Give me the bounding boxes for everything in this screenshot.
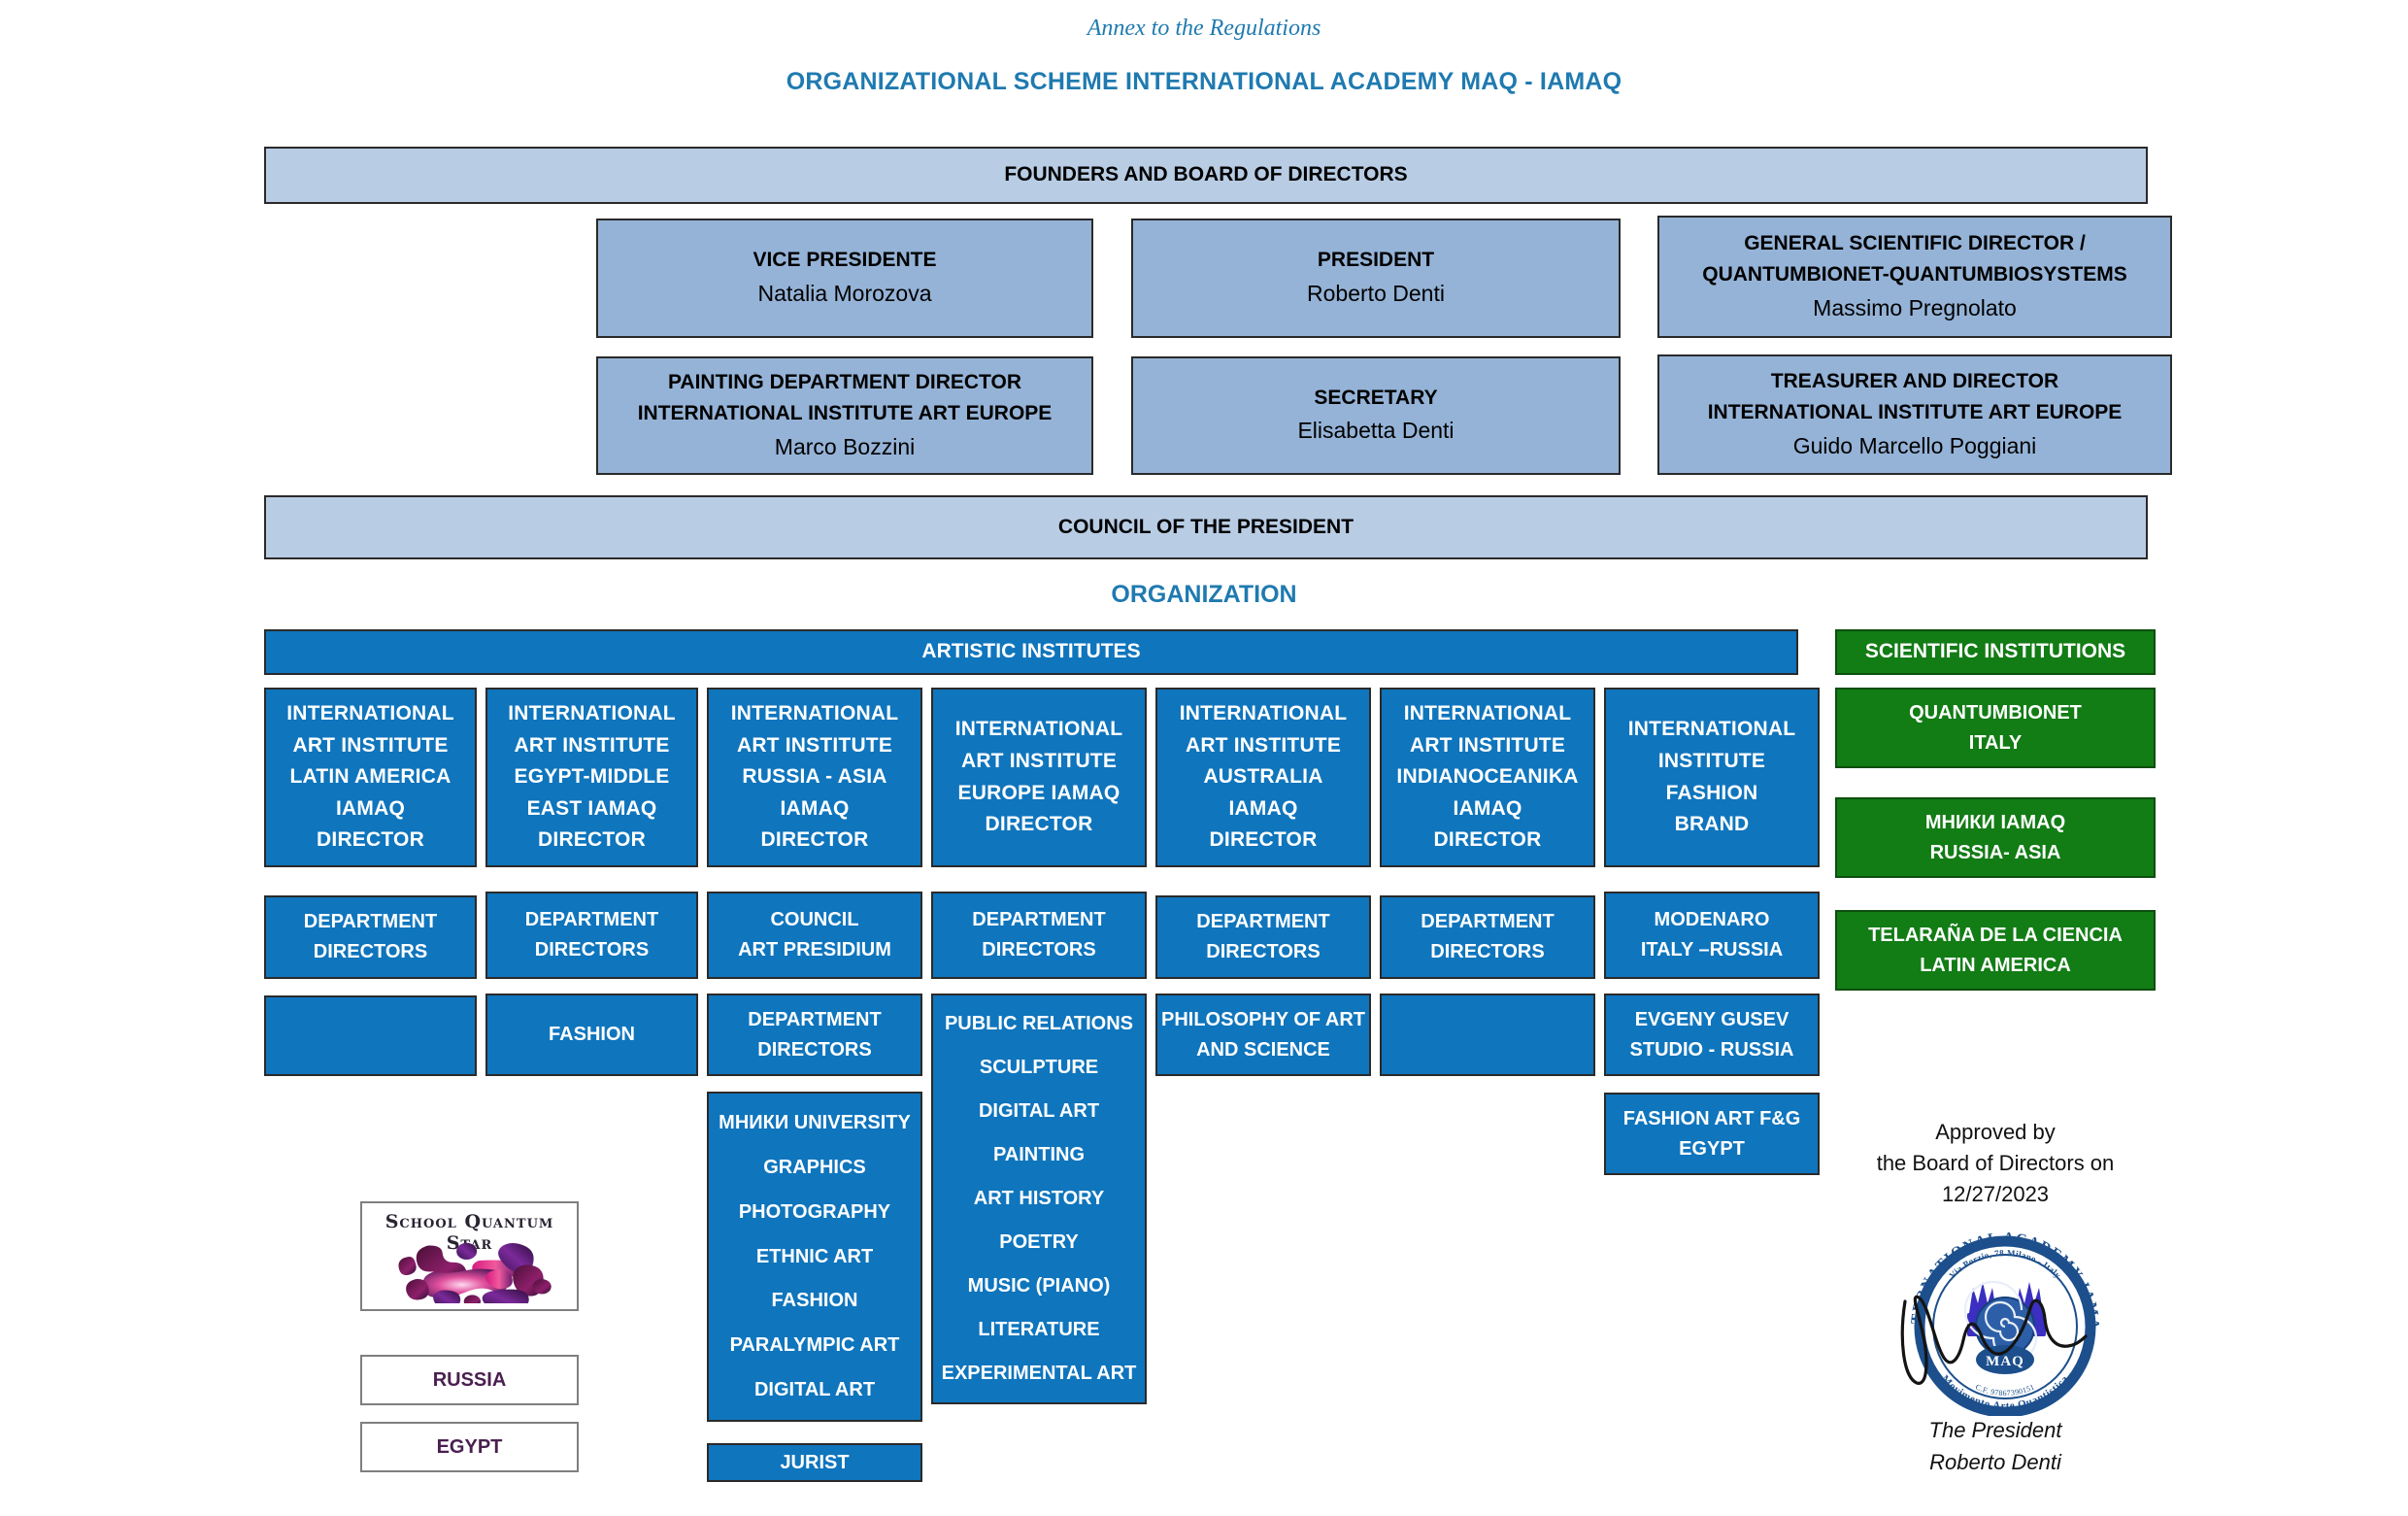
scientific-card-quantumbionet[interactable]: QUANTUMBIONET ITALY (1835, 688, 2156, 768)
scientific-line: TELARAÑA DE LA CIENCIA (1868, 921, 2123, 951)
institute-card-europe[interactable]: INTERNATIONAL ART INSTITUTE EUROPE IAMAQ… (931, 688, 1147, 867)
dept-line: DEPARTMENT (1196, 907, 1329, 937)
institute-card-indianoceanika[interactable]: INTERNATIONAL ART INSTITUTE INDIANOCEANI… (1380, 688, 1595, 867)
fashion-card-egypt[interactable]: FASHION (485, 994, 698, 1076)
band-artistic-institutes: ARTISTIC INSTITUTES (264, 629, 1798, 675)
role-title: PRESIDENT (1318, 245, 1434, 277)
university-item: МНИКИ UNIVERSITY (719, 1108, 911, 1138)
dept-line: STUDIO - RUSSIA (1630, 1035, 1794, 1065)
institute-line: DIRECTOR (1210, 825, 1318, 857)
university-item: PHOTOGRAPHY (739, 1197, 890, 1228)
signature-name: Roberto Denti (1835, 1446, 2156, 1478)
institute-line: ART INSTITUTE (961, 746, 1117, 778)
band-scientific-institutions-label: SCIENTIFIC INSTITUTIONS (1865, 636, 2125, 668)
dept-card-egypt[interactable]: DEPARTMENT DIRECTORS (485, 892, 698, 979)
discipline-item: DIGITAL ART (979, 1096, 1099, 1127)
institute-line: LATIN AMERICA (290, 761, 451, 793)
signature-caption: The President Roberto Denti (1835, 1414, 2156, 1478)
dept-line: DIRECTORS (982, 935, 1095, 965)
evgeny-gusev-studio-card[interactable]: EVGENY GUSEV STUDIO - RUSSIA (1604, 994, 1820, 1076)
institute-line: ART INSTITUTE (737, 730, 892, 762)
institute-line: ART INSTITUTE (292, 730, 448, 762)
dept-line: DEPARTMENT (748, 1005, 881, 1035)
board-card-treasurer-and-director[interactable]: TREASURER AND DIRECTOR INTERNATIONAL INS… (1657, 354, 2172, 475)
institute-line: IAMAQ (781, 793, 850, 825)
institute-line: DIRECTOR (317, 825, 424, 857)
institute-card-australia[interactable]: INTERNATIONAL ART INSTITUTE AUSTRALIA IA… (1155, 688, 1371, 867)
institute-line: INTERNATIONAL (731, 698, 899, 730)
scientific-line: QUANTUMBIONET (1909, 698, 2082, 728)
dept-line: ART PRESIDIUM (738, 935, 891, 965)
dept-card-russia-asia[interactable]: DEPARTMENT DIRECTORS (707, 994, 922, 1076)
board-card-vice-president[interactable]: VICE PRESIDENTE Natalia Morozova (596, 219, 1093, 338)
dept-line: DIRECTORS (1430, 937, 1544, 967)
scientific-card-mniki-iamaq[interactable]: МНИКИ IAMAQ RUSSIA- ASIA (1835, 797, 2156, 878)
dept-line: DIRECTORS (757, 1035, 871, 1065)
annex-subtitle: Annex to the Regulations (0, 16, 2408, 42)
role-title: PAINTING DEPARTMENT DIRECTOR (668, 367, 1021, 399)
dept-card-indianoceanika[interactable]: DEPARTMENT DIRECTORS (1380, 895, 1595, 979)
institute-line: AUSTRALIA (1203, 761, 1322, 793)
university-item: ETHNIC ART (756, 1242, 873, 1272)
dept-line: ITALY –RUSSIA (1641, 935, 1783, 965)
institute-line: RUSSIA - ASIA (742, 761, 886, 793)
org-chart-page: Annex to the Regulations ORGANIZATIONAL … (0, 0, 2408, 1516)
university-item: DIGITAL ART (754, 1375, 875, 1405)
discipline-item: SCULPTURE (980, 1053, 1098, 1083)
institute-line: ART INSTITUTE (1410, 730, 1565, 762)
country-label: RUSSIA (433, 1365, 507, 1396)
organization-heading: ORGANIZATION (0, 581, 2408, 609)
university-item: FASHION (772, 1286, 858, 1316)
role-title: SECRETARY (1314, 383, 1437, 415)
university-item: GRAPHICS (763, 1153, 866, 1183)
band-founders-label: FOUNDERS AND BOARD OF DIRECTORS (1004, 159, 1407, 191)
dept-line: AND SCIENCE (1196, 1035, 1330, 1065)
institute-card-russia-asia[interactable]: INTERNATIONAL ART INSTITUTE RUSSIA - ASI… (707, 688, 922, 867)
dept-line: DIRECTORS (314, 937, 427, 967)
quantum-star-country-russia[interactable]: RUSSIA (360, 1355, 579, 1405)
scientific-line: ITALY (1969, 728, 2022, 758)
scientific-line: RUSSIA- ASIA (1930, 838, 2061, 868)
role-title-2: QUANTUMBIONET-QUANTUMBIOSYSTEMS (1702, 259, 2127, 291)
dept-line: DEPARTMENT (1421, 907, 1554, 937)
dept-line: DEPARTMENT (525, 905, 658, 935)
dept-line: EVGENY GUSEV (1635, 1005, 1789, 1035)
empty-card-latin-america[interactable] (264, 995, 477, 1076)
mniki-university-card[interactable]: МНИКИ UNIVERSITY GRAPHICS PHOTOGRAPHY ET… (707, 1092, 922, 1422)
role-name: Guido Marcello Poggiani (1793, 429, 2037, 464)
institute-line: DIRECTOR (1434, 825, 1542, 857)
quantum-blob-svg (372, 1238, 567, 1303)
dept-line: FASHION ART F&G (1623, 1104, 1801, 1134)
role-title: VICE PRESIDENTE (752, 245, 936, 277)
fashion-art-fg-egypt-card[interactable]: FASHION ART F&G EGYPT (1604, 1093, 1820, 1175)
dept-line: FASHION (549, 1020, 635, 1050)
institute-line: FASHION (1666, 778, 1758, 810)
philosophy-of-art-and-science-card[interactable]: PHILOSOPHY OF ART AND SCIENCE (1155, 994, 1371, 1076)
page-title: ORGANIZATIONAL SCHEME INTERNATIONAL ACAD… (0, 68, 2408, 96)
jurist-card[interactable]: JURIST (707, 1443, 922, 1482)
role-name: Massimo Pregnolato (1813, 291, 2017, 326)
approval-text: Approved by the Board of Directors on 12… (1835, 1117, 2156, 1210)
dept-line: DEPARTMENT (304, 907, 437, 937)
approval-line-2: the Board of Directors on (1835, 1148, 2156, 1179)
institute-line: ART INSTITUTE (514, 730, 669, 762)
institute-line: INSTITUTE (1658, 746, 1765, 778)
scientific-card-telarana-de-la-ciencia[interactable]: TELARAÑA DE LA CIENCIA LATIN AMERICA (1835, 910, 2156, 991)
board-card-president[interactable]: PRESIDENT Roberto Denti (1131, 219, 1621, 338)
institute-line: INTERNATIONAL (1628, 714, 1796, 746)
discipline-item: PAINTING (993, 1140, 1085, 1170)
institute-line: INTERNATIONAL (1180, 698, 1348, 730)
institute-line: EUROPE IAMAQ (958, 778, 1120, 810)
school-quantum-star-logo-card: School Quantum Star (360, 1201, 579, 1311)
institute-line: DIRECTOR (986, 809, 1093, 841)
discipline-item: MUSIC (PIANO) (968, 1271, 1111, 1301)
institute-line: IAMAQ (336, 793, 405, 825)
institute-line: ART INSTITUTE (1186, 730, 1341, 762)
role-title-2: INTERNATIONAL INSTITUTE ART EUROPE (638, 398, 1053, 430)
role-title: GENERAL SCIENTIFIC DIRECTOR / (1744, 228, 2086, 260)
institute-line: IAMAQ (1229, 793, 1298, 825)
institute-line: DIRECTOR (538, 825, 646, 857)
band-scientific-institutions: SCIENTIFIC INSTITUTIONS (1835, 629, 2156, 675)
role-title-2: INTERNATIONAL INSTITUTE ART EUROPE (1708, 397, 2123, 429)
role-name: Marco Bozzini (775, 430, 915, 465)
institute-line: INTERNATIONAL (955, 714, 1123, 746)
dept-card-latin-america[interactable]: DEPARTMENT DIRECTORS (264, 895, 477, 979)
board-card-general-scientific-director[interactable]: GENERAL SCIENTIFIC DIRECTOR / QUANTUMBIO… (1657, 216, 2172, 338)
role-name: Roberto Denti (1307, 277, 1445, 312)
discipline-item: ART HISTORY (974, 1184, 1104, 1214)
country-label: EGYPT (437, 1432, 503, 1463)
dept-card-australia[interactable]: DEPARTMENT DIRECTORS (1155, 895, 1371, 979)
university-item: PARALYMPIC ART (730, 1331, 900, 1361)
discipline-item: POETRY (999, 1228, 1079, 1258)
approval-date: 12/27/2023 (1835, 1179, 2156, 1210)
academy-seal-with-signature: INTERNATIONAL ACADEMY IAMAQ Via Porzio, … (1884, 1212, 2126, 1416)
dept-line: MODENARO (1655, 905, 1770, 935)
approval-line-1: Approved by (1835, 1117, 2156, 1148)
band-council-label: COUNCIL OF THE PRESIDENT (1058, 512, 1354, 544)
dept-line: PHILOSOPHY OF ART (1161, 1005, 1365, 1035)
institute-line: EAST IAMAQ (527, 793, 657, 825)
scientific-line: LATIN AMERICA (1920, 951, 2071, 981)
institute-line: BRAND (1675, 809, 1750, 841)
institute-line: INTERNATIONAL (286, 698, 454, 730)
role-title: TREASURER AND DIRECTOR (1771, 366, 2058, 398)
quantum-star-country-egypt[interactable]: EGYPT (360, 1422, 579, 1472)
institute-line: INTERNATIONAL (1404, 698, 1572, 730)
institute-line: EGYPT-MIDDLE (515, 761, 670, 793)
institute-card-latin-america[interactable]: INTERNATIONAL ART INSTITUTE LATIN AMERIC… (264, 688, 477, 867)
board-card-secretary[interactable]: SECRETARY Elisabetta Denti (1131, 356, 1621, 475)
band-founders: FOUNDERS AND BOARD OF DIRECTORS (264, 147, 2148, 204)
dept-line: DIRECTORS (1206, 937, 1320, 967)
jurist-label: JURIST (780, 1448, 849, 1478)
dept-line: COUNCIL (770, 905, 858, 935)
signature-role: The President (1835, 1414, 2156, 1446)
scientific-line: МНИКИ IAMAQ (1925, 808, 2065, 838)
dept-card-europe[interactable]: DEPARTMENT DIRECTORS (931, 892, 1147, 979)
discipline-item: PUBLIC RELATIONS (945, 1009, 1133, 1039)
discipline-item: LITERATURE (978, 1315, 1099, 1345)
institute-line: IAMAQ (1454, 793, 1522, 825)
institute-card-egypt-middle-east[interactable]: INTERNATIONAL ART INSTITUTE EGYPT-MIDDLE… (485, 688, 698, 867)
discipline-item: EXPERIMENTAL ART (942, 1359, 1137, 1389)
band-artistic-institutes-label: ARTISTIC INSTITUTES (921, 636, 1140, 668)
institute-line: INTERNATIONAL (508, 698, 676, 730)
institute-card-fashion-brand[interactable]: INTERNATIONAL INSTITUTE FASHION BRAND (1604, 688, 1820, 867)
role-name: Natalia Morozova (758, 277, 932, 312)
dept-line: DIRECTORS (535, 935, 649, 965)
europe-disciplines-card[interactable]: PUBLIC RELATIONS SCULPTURE DIGITAL ART P… (931, 994, 1147, 1404)
institute-line: INDIANOCEANIKA (1396, 761, 1578, 793)
band-council-of-the-president: COUNCIL OF THE PRESIDENT (264, 495, 2148, 559)
dept-line: EGYPT (1679, 1134, 1745, 1164)
institute-line: DIRECTOR (761, 825, 869, 857)
role-name: Elisabetta Denti (1297, 414, 1454, 449)
council-art-presidium-card[interactable]: COUNCIL ART PRESIDIUM (707, 892, 922, 979)
modenaro-card[interactable]: MODENARO ITALY –RUSSIA (1604, 892, 1820, 979)
quantum-blob-artwork (372, 1238, 567, 1303)
board-card-painting-department-director[interactable]: PAINTING DEPARTMENT DIRECTOR INTERNATION… (596, 356, 1093, 475)
empty-card-indianoceanika[interactable] (1380, 994, 1595, 1076)
svg-text:MAQ: MAQ (1986, 1354, 2024, 1369)
dept-line: DEPARTMENT (972, 905, 1105, 935)
seal-svg: INTERNATIONAL ACADEMY IAMAQ Via Porzio, … (1884, 1212, 2126, 1416)
